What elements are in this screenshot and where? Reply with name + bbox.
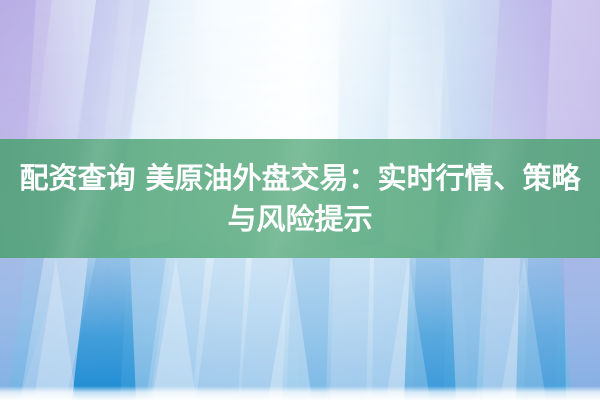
page-title: 配资查询 美原油外盘交易：实时行情、策略与风险提示 — [7, 158, 593, 240]
banner-title-container: 配资查询 美原油外盘交易：实时行情、策略与风险提示 — [0, 139, 600, 258]
bottom-fade-overlay — [0, 386, 600, 400]
article-header-banner: 配资查询 美原油外盘交易：实时行情、策略与风险提示 — [0, 0, 600, 400]
